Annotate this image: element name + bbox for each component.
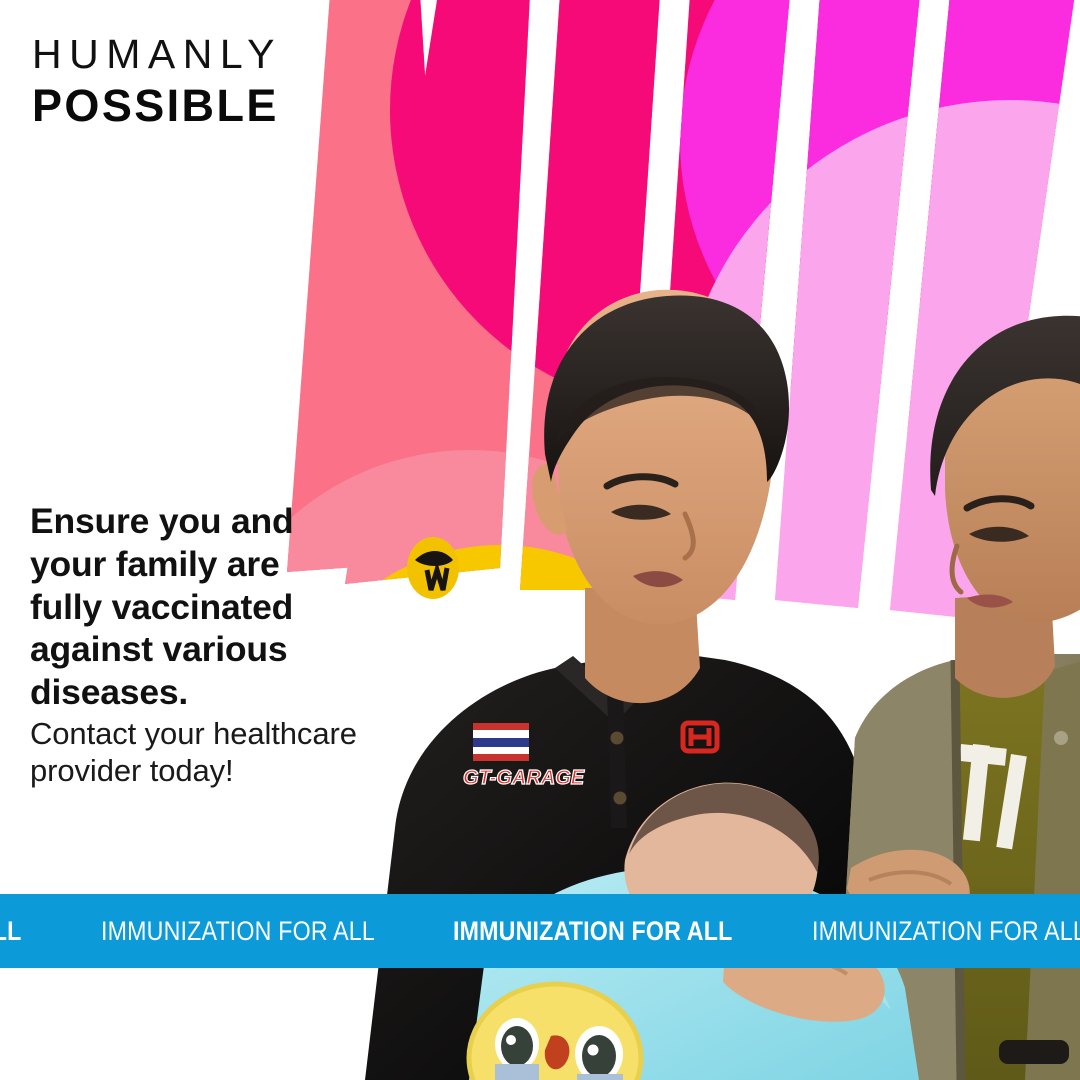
wrist-band [999,1040,1069,1064]
marquee-item-3: IMMUNIZATION FOR ALL [812,916,1080,947]
marquee-item-1: IMMUNIZATION FOR ALL [101,916,375,947]
immunization-marquee-banner: IMMUNIZATION FOR ALLIMMUNIZATION FOR ALL… [0,894,1080,968]
polo-button-2 [614,792,627,805]
headline-block: Ensure you and your family are fully vac… [30,500,360,790]
polo-button-1 [611,732,624,745]
logo-line-possible: POSSIBLE [32,83,282,128]
poster-canvas: HUMANLY POSSIBLE [0,0,1080,1080]
subline-text: Contact your healthcare provider today! [30,716,360,790]
logo-line-humanly: HUMANLY [32,34,282,75]
jacket-snap [1054,731,1068,745]
headline-text: Ensure you and your family are fully vac… [30,500,360,714]
humanly-possible-logo: HUMANLY POSSIBLE [32,34,282,128]
marquee-strip: IMMUNIZATION FOR ALLIMMUNIZATION FOR ALL… [0,894,1080,968]
svg-text:GT-GARAGE: GT-GARAGE [463,767,585,789]
marquee-item-0: IMMUNIZATION FOR ALL [0,916,21,947]
marquee-item-2: IMMUNIZATION FOR ALL [453,916,732,947]
